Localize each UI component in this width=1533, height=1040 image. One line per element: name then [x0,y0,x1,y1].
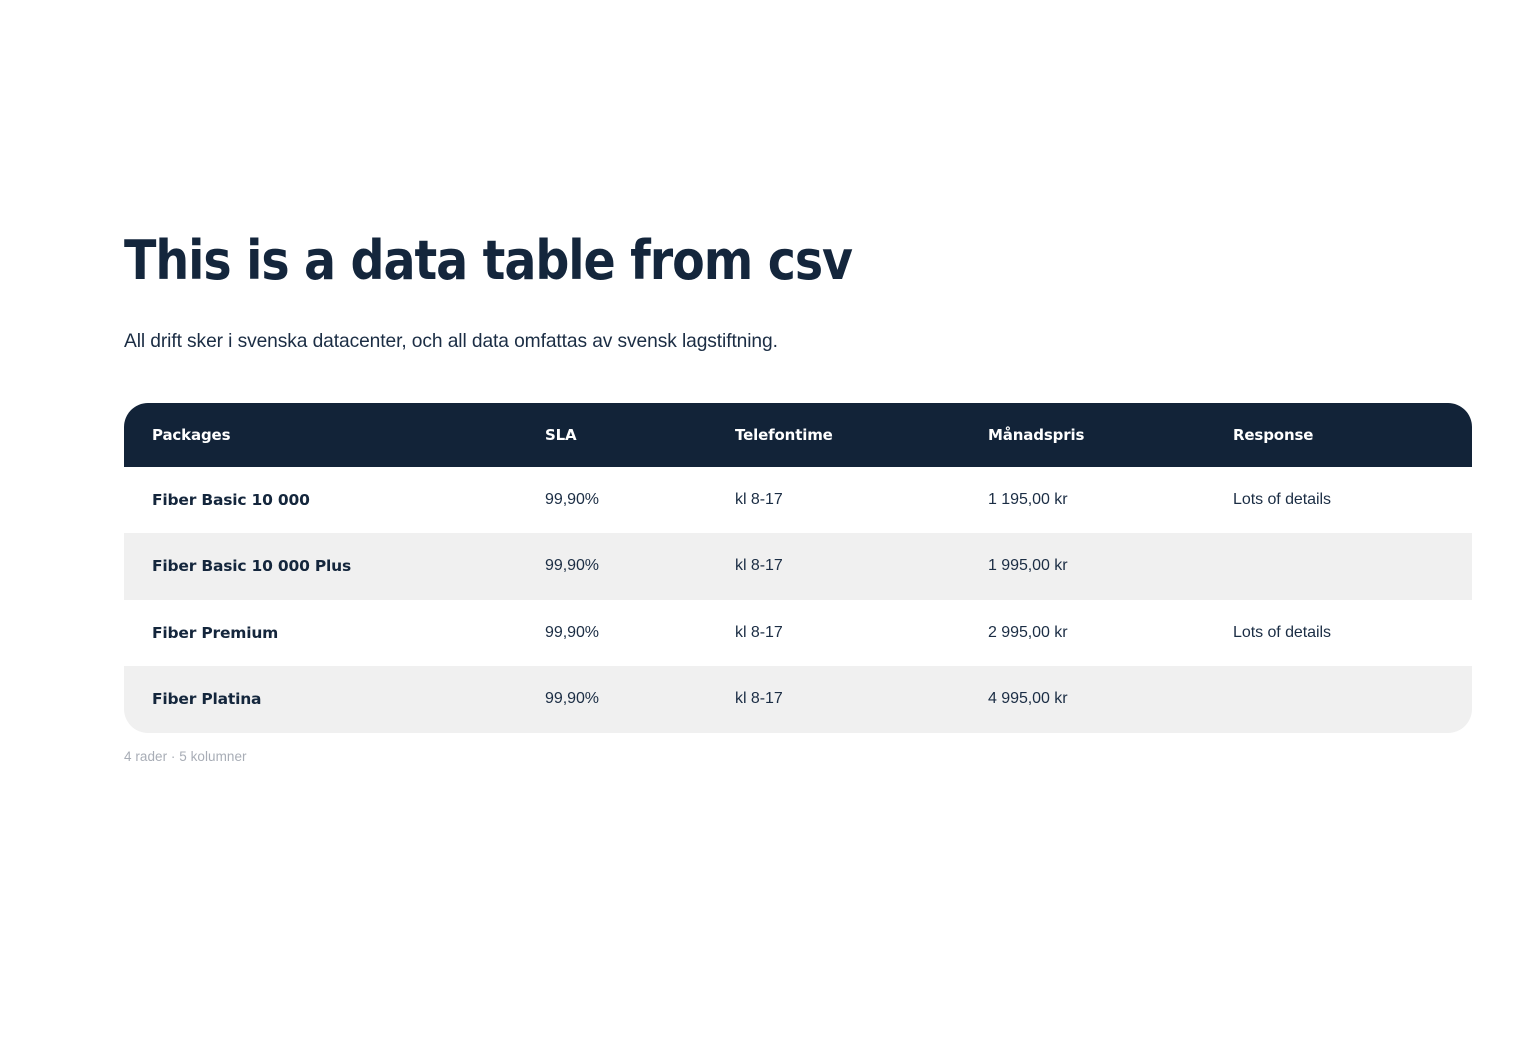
cell-telefontime: kl 8-17 [707,600,960,667]
cell-response: Lots of details [1205,467,1472,534]
cell-response: Lots of details [1205,600,1472,667]
cell-response [1205,533,1472,600]
column-header-packages[interactable]: Packages [124,403,517,467]
column-header-manadspris[interactable]: Månadspris [960,403,1205,467]
column-header-telefontime[interactable]: Telefontime [707,403,960,467]
content-container: This is a data table from csv All drift … [124,232,1472,764]
cell-packages: Fiber Basic 10 000 Plus [124,533,517,600]
data-table: Packages SLA Telefontime Månadspris Resp… [124,403,1472,733]
column-header-sla[interactable]: SLA [517,403,707,467]
cell-manadspris: 1 995,00 kr [960,533,1205,600]
table-row: Fiber Platina 99,90% kl 8-17 4 995,00 kr [124,666,1472,733]
cell-sla: 99,90% [517,666,707,733]
cell-sla: 99,90% [517,600,707,667]
cell-response [1205,666,1472,733]
cell-manadspris: 4 995,00 kr [960,666,1205,733]
table-row: Fiber Premium 99,90% kl 8-17 2 995,00 kr… [124,600,1472,667]
page-subtitle: All drift sker i svenska datacenter, och… [124,290,1452,354]
page-root: This is a data table from csv All drift … [0,0,1533,1040]
page-title: This is a data table from csv [124,232,1310,290]
cell-telefontime: kl 8-17 [707,533,960,600]
cell-sla: 99,90% [517,467,707,534]
cell-sla: 99,90% [517,533,707,600]
cell-telefontime: kl 8-17 [707,467,960,534]
cell-packages: Fiber Basic 10 000 [124,467,517,534]
cell-packages: Fiber Premium [124,600,517,667]
cell-manadspris: 1 195,00 kr [960,467,1205,534]
table-caption: 4 rader · 5 kolumner [124,733,1472,764]
cell-manadspris: 2 995,00 kr [960,600,1205,667]
cell-packages: Fiber Platina [124,666,517,733]
column-header-response[interactable]: Response [1205,403,1472,467]
table-header-row: Packages SLA Telefontime Månadspris Resp… [124,403,1472,467]
data-table-container: Packages SLA Telefontime Månadspris Resp… [124,355,1472,764]
table-body: Fiber Basic 10 000 99,90% kl 8-17 1 195,… [124,467,1472,733]
cell-telefontime: kl 8-17 [707,666,960,733]
table-row: Fiber Basic 10 000 99,90% kl 8-17 1 195,… [124,467,1472,534]
table-row: Fiber Basic 10 000 Plus 99,90% kl 8-17 1… [124,533,1472,600]
table-header: Packages SLA Telefontime Månadspris Resp… [124,403,1472,467]
